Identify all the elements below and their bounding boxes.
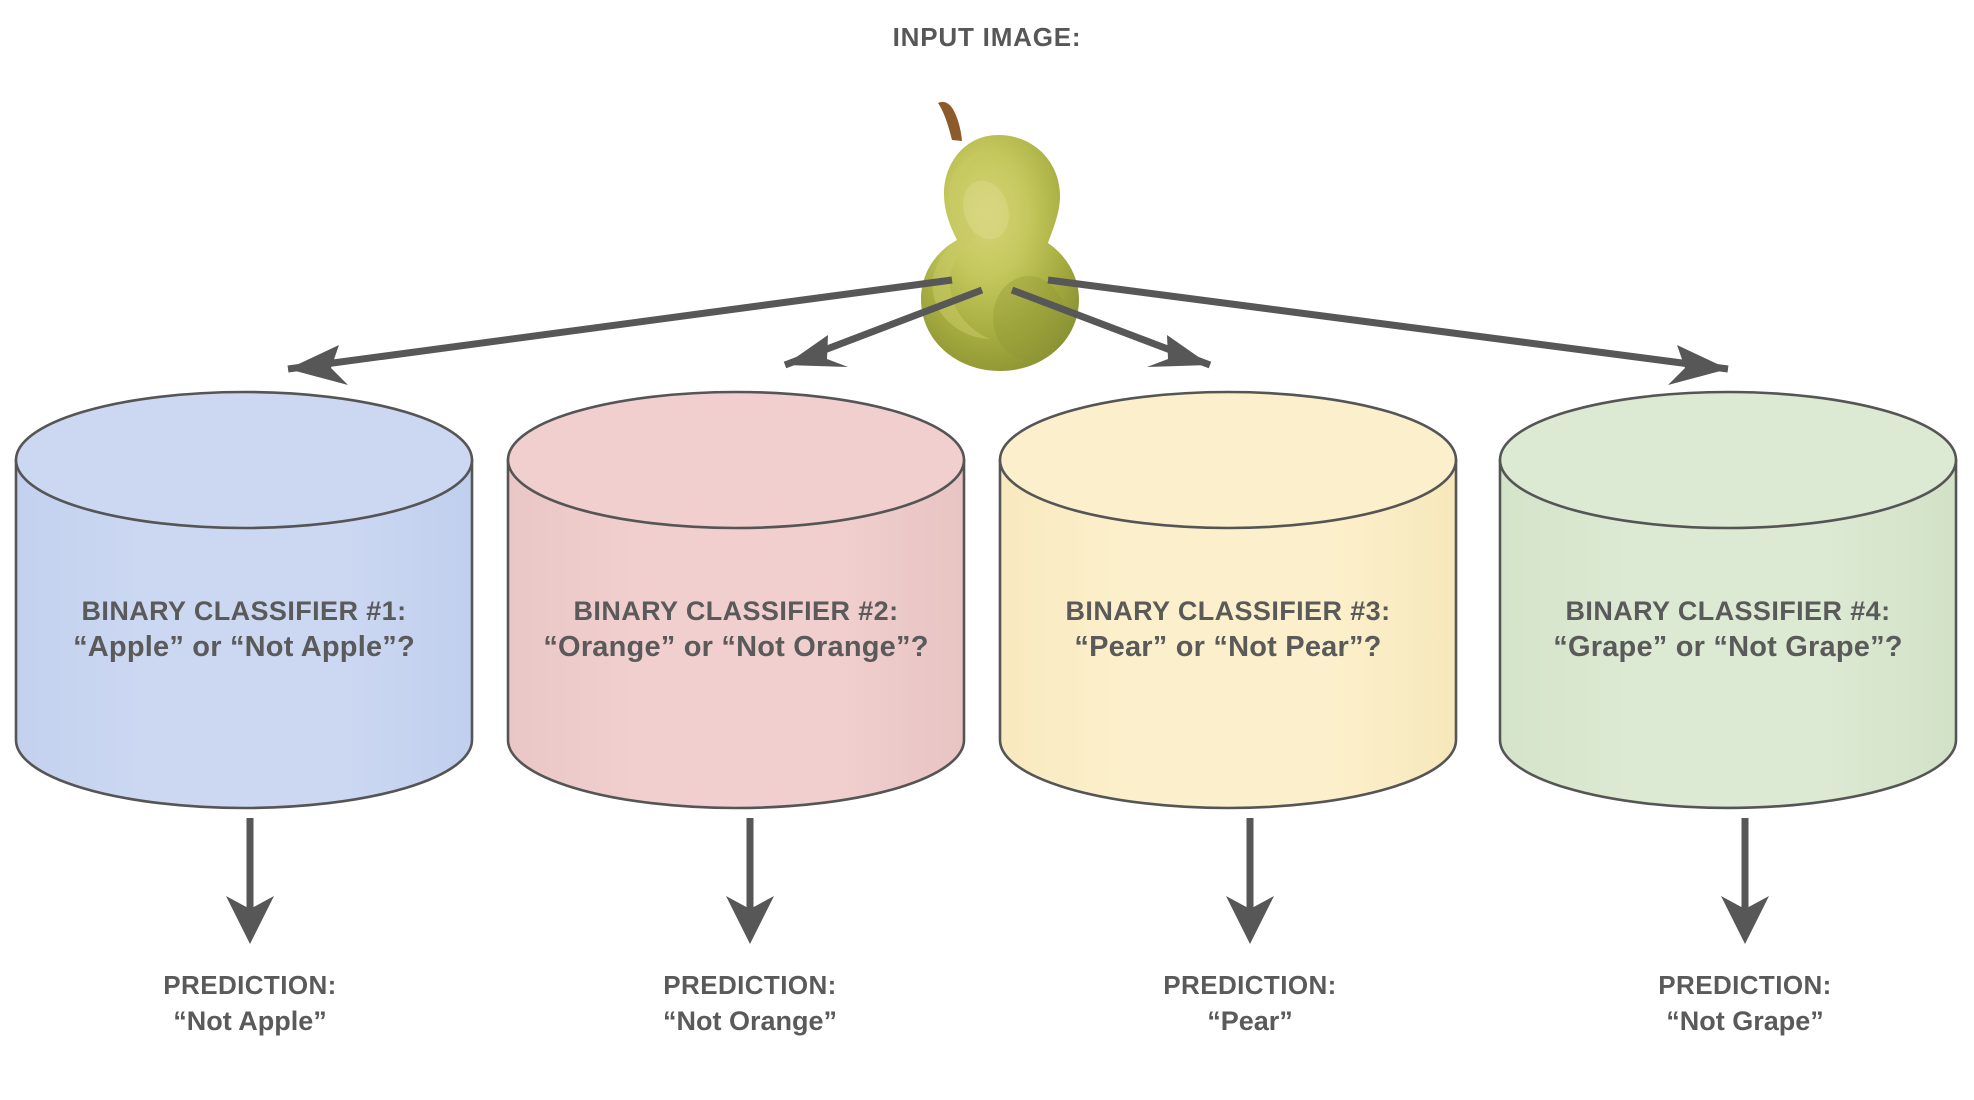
prediction-title-1: PREDICTION: xyxy=(20,968,480,1003)
classifier-cylinder-3[interactable] xyxy=(1000,392,1456,808)
prediction-2: PREDICTION: “Not Orange” xyxy=(520,968,980,1039)
arrow-classifier-2-to-prediction xyxy=(726,818,774,944)
prediction-value-1: “Not Apple” xyxy=(20,1003,480,1039)
prediction-title-3: PREDICTION: xyxy=(1020,968,1480,1003)
classifier-cylinder-4[interactable] xyxy=(1500,392,1956,808)
prediction-1: PREDICTION: “Not Apple” xyxy=(20,968,480,1039)
pear-image xyxy=(921,102,1079,371)
prediction-title-2: PREDICTION: xyxy=(520,968,980,1003)
prediction-4: PREDICTION: “Not Grape” xyxy=(1515,968,1974,1039)
prediction-value-3: “Pear” xyxy=(1020,1003,1480,1039)
arrow-classifier-1-to-prediction xyxy=(226,818,274,944)
arrow-pear-to-classifier-4 xyxy=(1048,280,1728,385)
diagram-vector-layer xyxy=(0,0,1974,1100)
prediction-value-2: “Not Orange” xyxy=(520,1003,980,1039)
classifier-cylinder-2[interactable] xyxy=(508,392,964,808)
diagram-canvas: INPUT IMAGE: xyxy=(0,0,1974,1100)
arrow-classifier-4-to-prediction xyxy=(1721,818,1769,944)
prediction-value-4: “Not Grape” xyxy=(1515,1003,1974,1039)
arrow-pear-to-classifier-1 xyxy=(288,280,952,385)
classifier-cylinder-1[interactable] xyxy=(16,392,472,808)
prediction-title-4: PREDICTION: xyxy=(1515,968,1974,1003)
prediction-3: PREDICTION: “Pear” xyxy=(1020,968,1480,1039)
arrow-classifier-3-to-prediction xyxy=(1226,818,1274,944)
